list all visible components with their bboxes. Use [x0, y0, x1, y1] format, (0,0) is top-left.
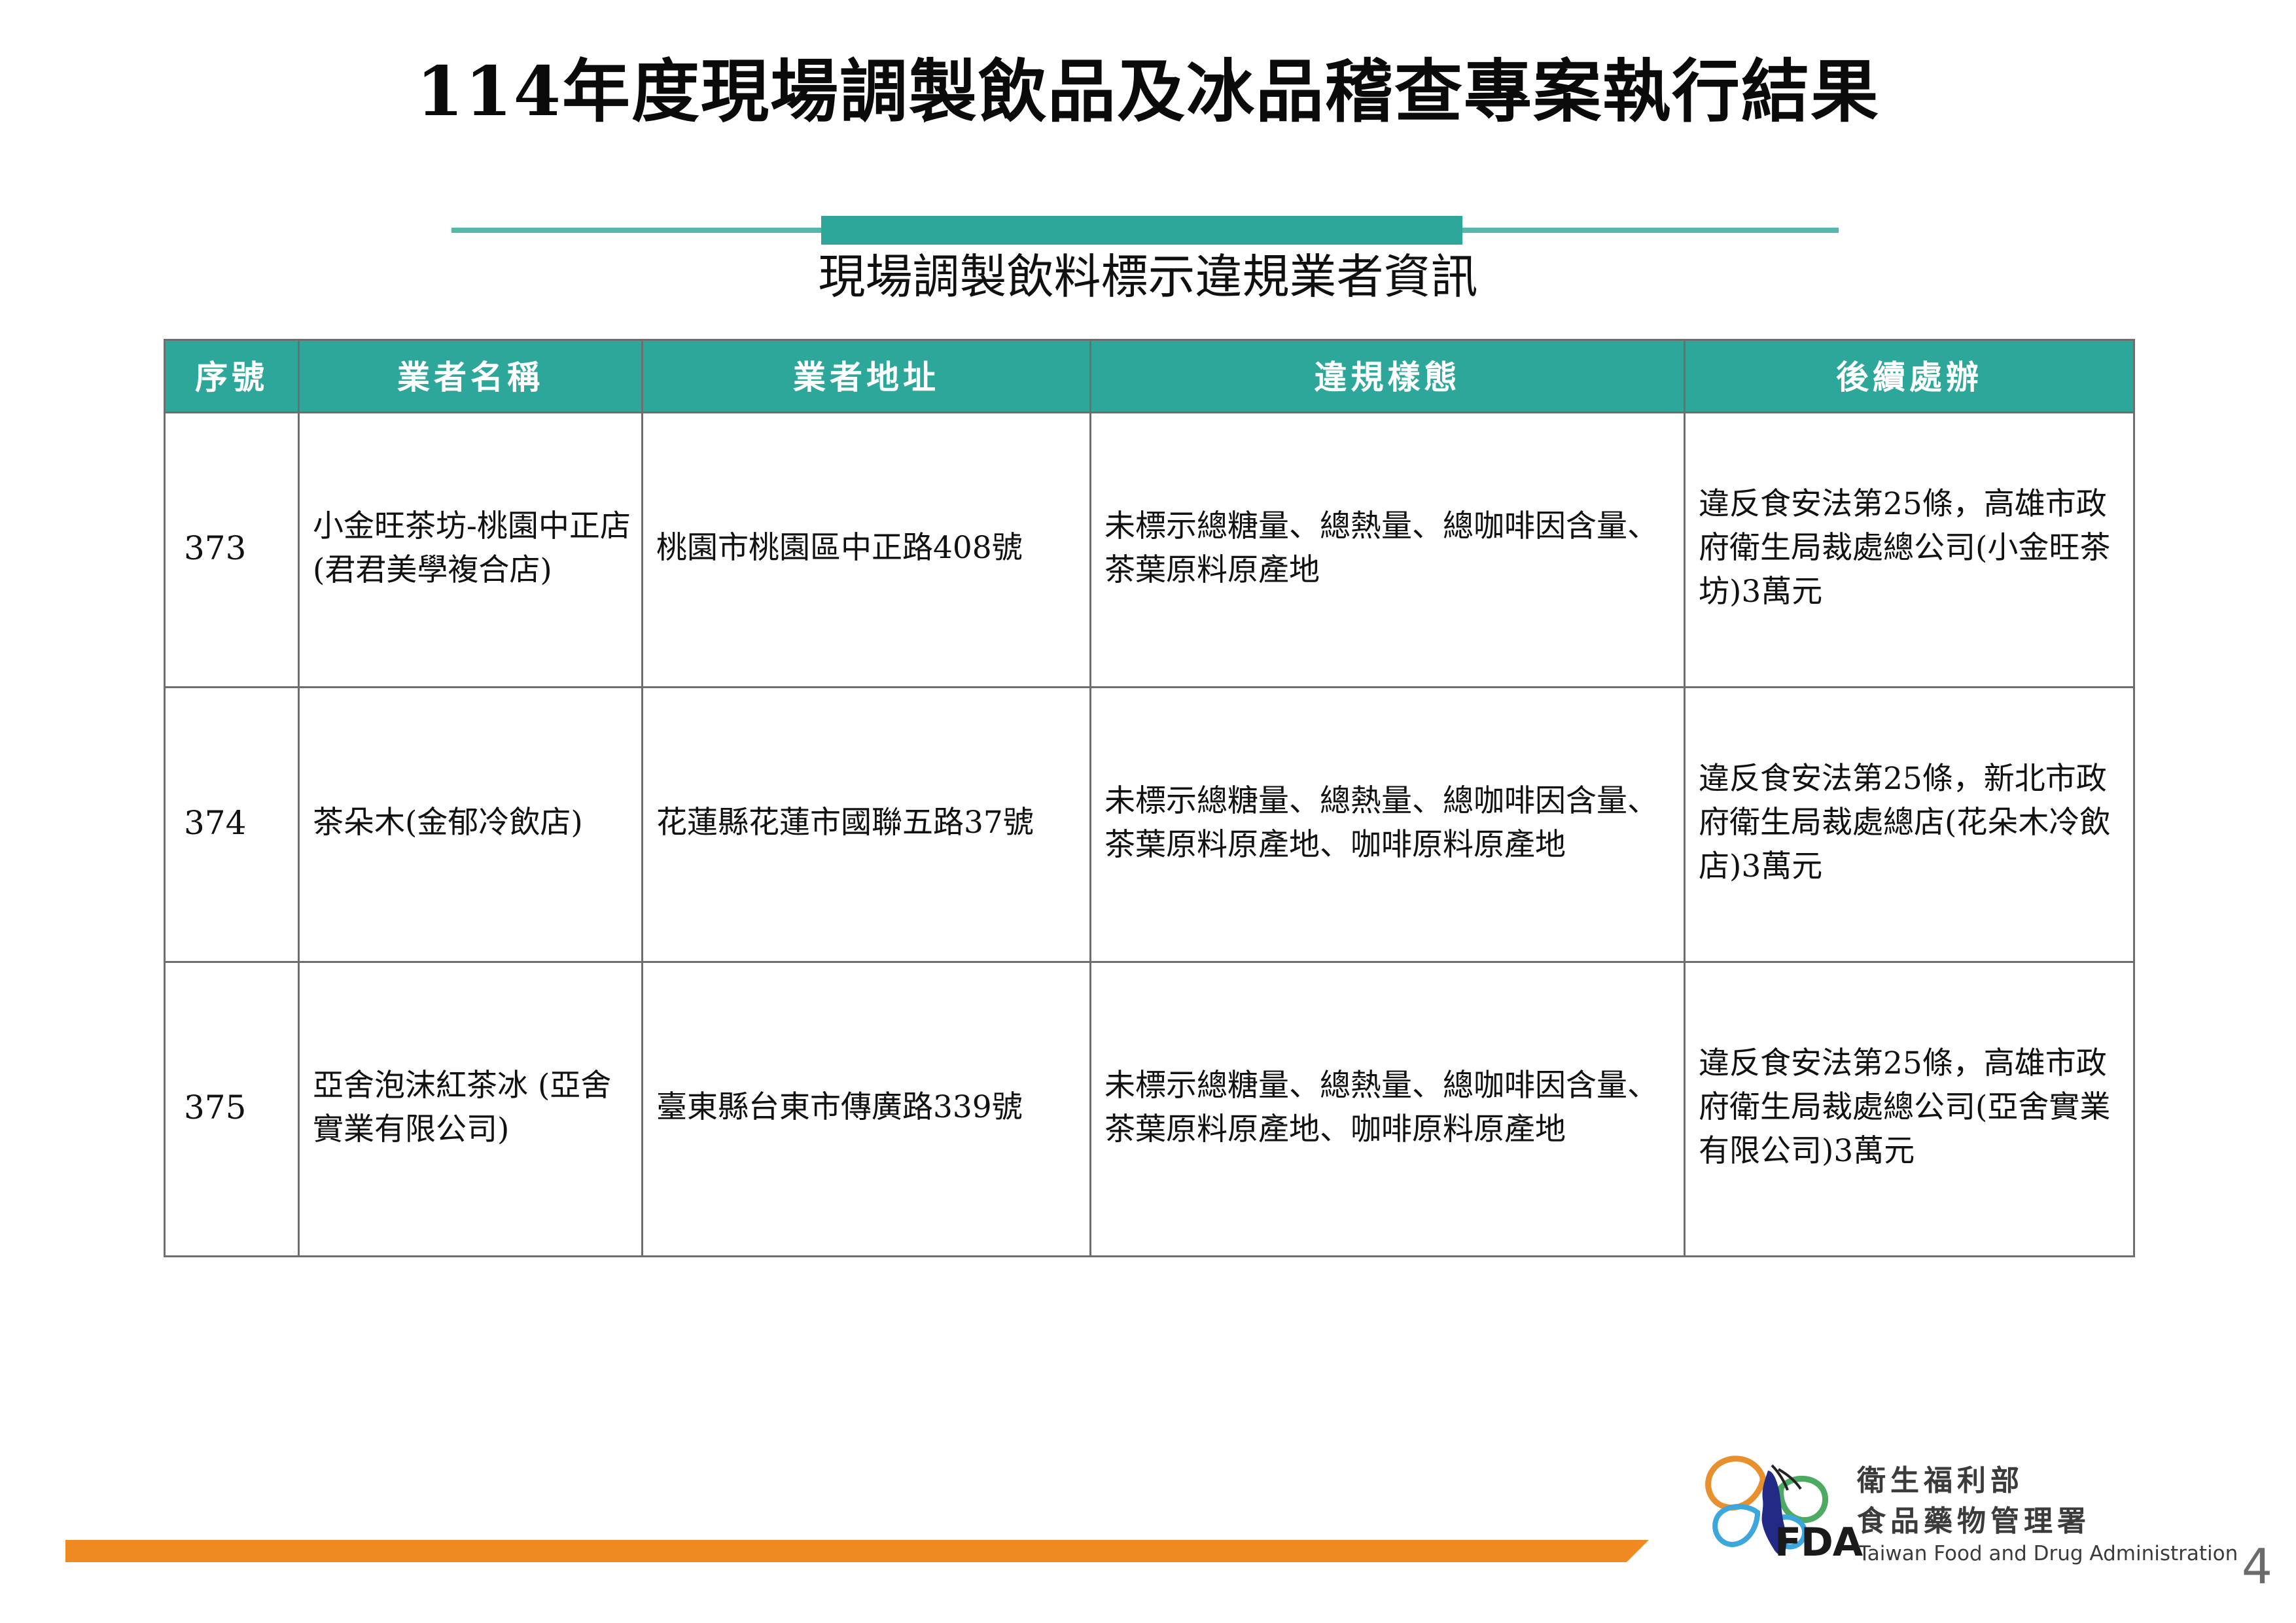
footer-accent-bar — [65, 1540, 1649, 1562]
fda-logo: FDA 衛生福利部 食品藥物管理署 Taiwan Food and Drug A… — [1695, 1452, 2153, 1577]
divider-center-block — [821, 216, 1462, 245]
column-header-seq: 序號 — [165, 340, 299, 413]
cell-address: 花蓮縣花蓮市國聯五路37號 — [643, 688, 1091, 962]
cell-name: 亞舍泡沫紅茶冰 (亞舍實業有限公司) — [299, 962, 643, 1257]
table-row: 373 小金旺茶坊-桃園中正店(君君美學複合店) 桃園市桃園區中正路408號 未… — [165, 413, 2134, 688]
cell-seq: 375 — [165, 962, 299, 1257]
cell-violation: 未標示總糖量、總熱量、總咖啡因含量、茶葉原料原產地、咖啡原料原產地 — [1091, 962, 1685, 1257]
cell-name: 茶朵木(金郁冷飲店) — [299, 688, 643, 962]
cell-name: 小金旺茶坊-桃園中正店(君君美學複合店) — [299, 413, 643, 688]
agency-name-english: Taiwan Food and Drug Administration — [1858, 1544, 2238, 1564]
cell-address: 臺東縣台東市傳廣路339號 — [643, 962, 1091, 1257]
table-header-row: 序號 業者名稱 業者地址 違規樣態 後續處辦 — [165, 340, 2134, 413]
cell-address: 桃園市桃園區中正路408號 — [643, 413, 1091, 688]
page-number: 4 — [2242, 1539, 2272, 1595]
table-row: 374 茶朵木(金郁冷飲店) 花蓮縣花蓮市國聯五路37號 未標示總糖量、總熱量、… — [165, 688, 2134, 962]
table-row: 375 亞舍泡沫紅茶冰 (亞舍實業有限公司) 臺東縣台東市傳廣路339號 未標示… — [165, 962, 2134, 1257]
column-header-penalty: 後續處辦 — [1685, 340, 2134, 413]
cell-violation: 未標示總糖量、總熱量、總咖啡因含量、茶葉原料原產地、咖啡原料原產地 — [1091, 688, 1685, 962]
title-divider — [451, 216, 1839, 245]
agency-name-line2: 食品藥物管理署 — [1857, 1507, 2091, 1536]
section-subtitle: 現場調製飲料標示違規業者資訊 — [0, 249, 2296, 305]
cell-penalty: 違反食安法第25條，高雄市政府衛生局裁處總公司(亞舍實業有限公司)3萬元 — [1685, 962, 2134, 1257]
cell-penalty: 違反食安法第25條，高雄市政府衛生局裁處總公司(小金旺茶坊)3萬元 — [1685, 413, 2134, 688]
cell-violation: 未標示總糖量、總熱量、總咖啡因含量、茶葉原料原產地 — [1091, 413, 1685, 688]
column-header-name: 業者名稱 — [299, 340, 643, 413]
column-header-violation: 違規樣態 — [1091, 340, 1685, 413]
agency-name-line1: 衛生福利部 — [1857, 1467, 2024, 1495]
cell-seq: 374 — [165, 688, 299, 962]
column-header-address: 業者地址 — [643, 340, 1091, 413]
cell-seq: 373 — [165, 413, 299, 688]
fda-wordmark: FDA — [1775, 1523, 1862, 1562]
violation-table: 序號 業者名稱 業者地址 違規樣態 後續處辦 373 小金旺茶坊-桃園中正店(君… — [164, 339, 2135, 1257]
page-title: 114年度現場調製飲品及冰品稽查專案執行結果 — [0, 55, 2296, 128]
cell-penalty: 違反食安法第25條，新北市政府衛生局裁處總店(花朵木冷飲店)3萬元 — [1685, 688, 2134, 962]
